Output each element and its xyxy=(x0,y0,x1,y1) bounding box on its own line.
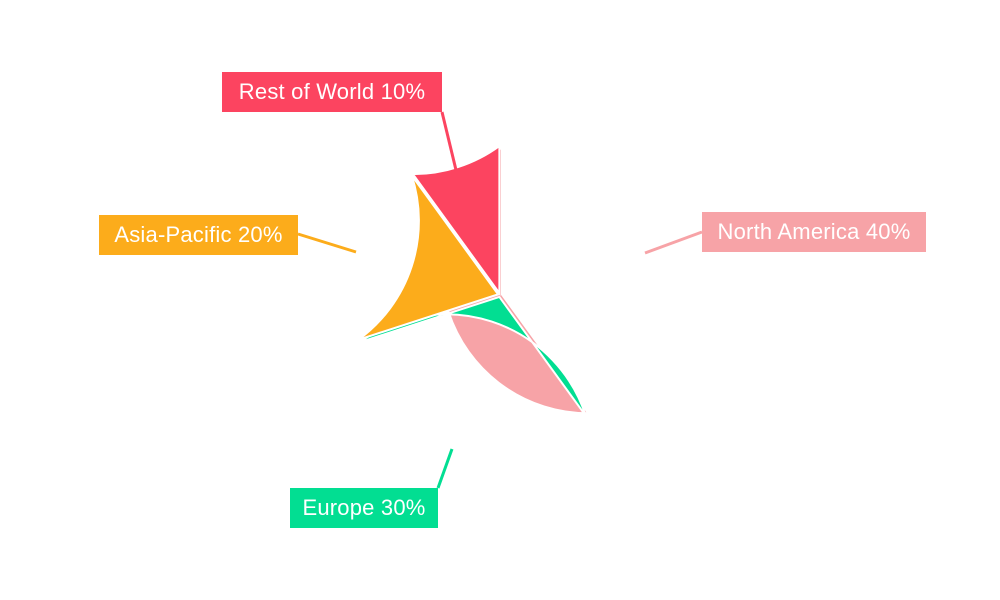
slice-label-text: Asia-Pacific 20% xyxy=(114,224,282,246)
slice-label-text: North America 40% xyxy=(718,221,911,243)
pie-chart-canvas xyxy=(0,0,1000,600)
slice-label-europe: Europe 30% xyxy=(290,488,438,528)
slice-label-text: Rest of World 10% xyxy=(239,81,425,103)
pie-chart-figure: North America 40% Europe 30% Asia-Pacifi… xyxy=(0,0,1000,600)
leader-line-rest-of-world xyxy=(442,112,456,170)
slice-label-north-america: North America 40% xyxy=(702,212,926,252)
slice-label-text: Europe 30% xyxy=(302,497,425,519)
pie-slices-group xyxy=(358,146,588,416)
leader-line-asia-pacific xyxy=(298,234,356,252)
slice-label-asia-pacific: Asia-Pacific 20% xyxy=(99,215,298,255)
slice-label-rest-of-world: Rest of World 10% xyxy=(222,72,442,112)
leader-line-north-america xyxy=(645,232,702,253)
leader-line-europe xyxy=(438,449,452,488)
